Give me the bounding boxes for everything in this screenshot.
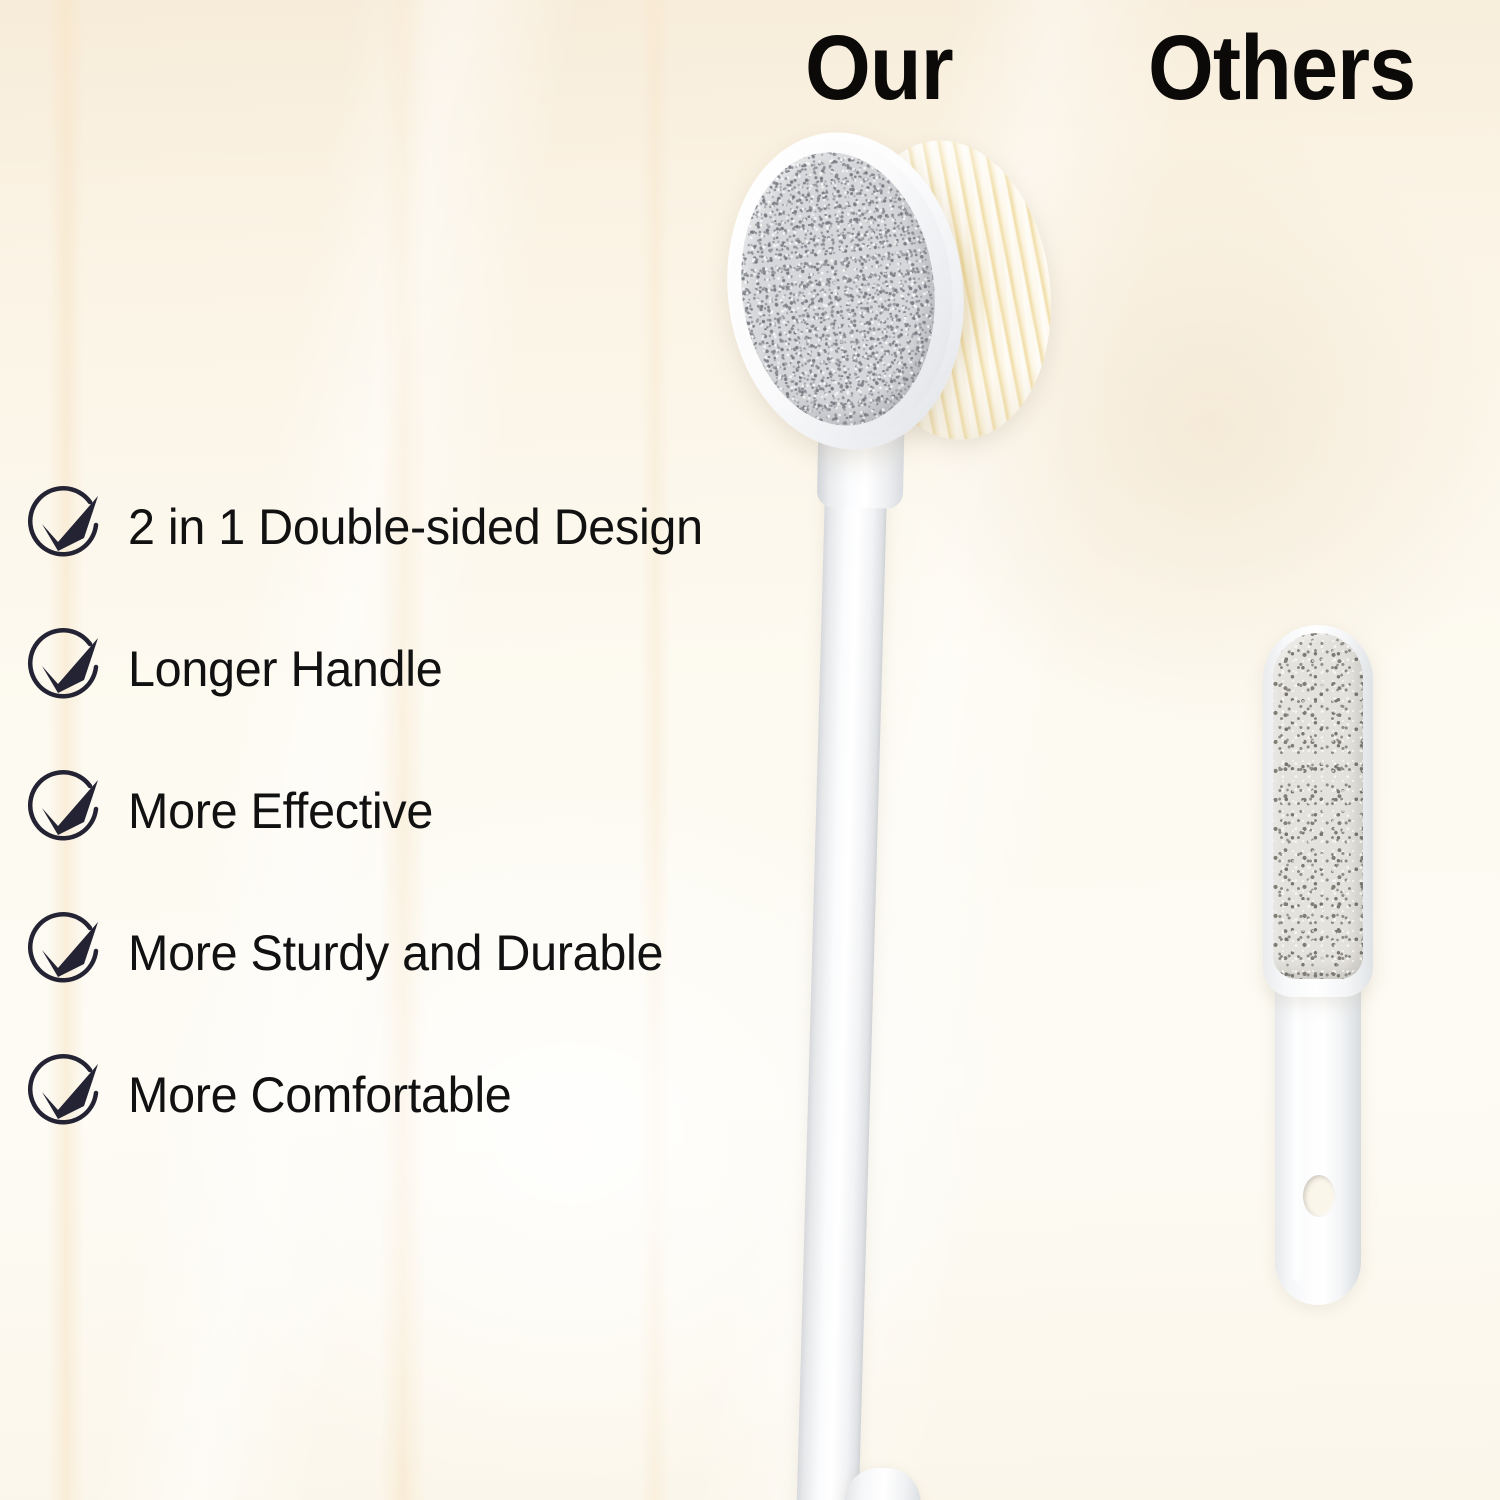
column-header-our: Our xyxy=(805,22,953,114)
pumice-pad-texture-fine xyxy=(1273,633,1363,979)
check-circle-icon xyxy=(28,488,102,562)
brush-handle xyxy=(796,419,889,1500)
product-image-our-bath-brush xyxy=(700,120,1080,1500)
foot-file-handle xyxy=(1275,945,1361,1305)
product-comparison-image: Our Others 2 in 1 Double-sided Design Lo… xyxy=(0,0,1500,1500)
foot-file-handle-sheen xyxy=(1289,951,1305,1281)
check-circle-icon xyxy=(28,914,102,988)
check-circle-icon xyxy=(28,772,102,846)
pumice-stone-pad xyxy=(1273,633,1363,979)
check-circle-icon xyxy=(28,1056,102,1130)
foot-file-hanging-hole xyxy=(1303,1175,1335,1217)
feature-label: 2 in 1 Double-sided Design xyxy=(128,498,703,556)
product-image-other-foot-file xyxy=(1255,615,1435,1315)
pumice-stone-disc xyxy=(726,141,950,436)
column-header-others: Others xyxy=(1148,22,1415,114)
pumice-texture-fine xyxy=(726,141,950,436)
feature-label: More Sturdy and Durable xyxy=(128,924,663,982)
feature-label: More Effective xyxy=(128,782,433,840)
feature-label: Longer Handle xyxy=(128,640,442,698)
check-circle-icon xyxy=(28,630,102,704)
feature-label: More Comfortable xyxy=(128,1066,511,1124)
